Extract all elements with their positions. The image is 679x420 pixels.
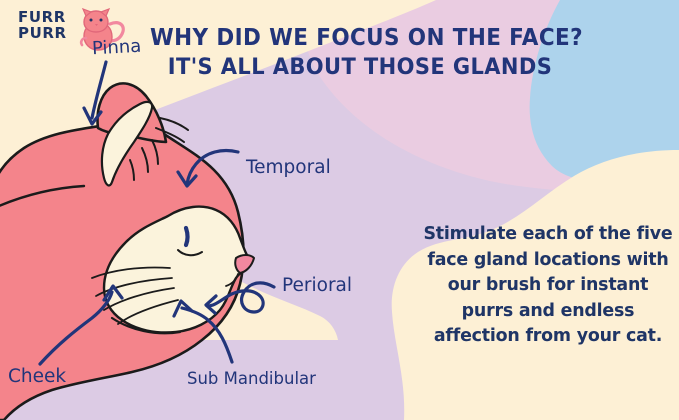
body-copy: Stimulate each of the five face gland lo… (422, 222, 674, 350)
brand-line-2: PURR (18, 26, 67, 42)
page-title: WHY DID WE FOCUS ON THE FACE? IT'S ALL A… (150, 24, 570, 81)
label-cheek: Cheek (8, 366, 66, 387)
headline-line-2: IT'S ALL ABOUT THOSE GLANDS (150, 53, 570, 82)
cat-nose (235, 255, 254, 273)
infographic-canvas: FURR PURR WHY DID WE FOCUS ON THE FACE? … (0, 0, 679, 420)
headline-line-1: WHY DID WE FOCUS ON THE FACE? (150, 24, 570, 53)
label-temporal: Temporal (246, 157, 331, 178)
label-perioral: Perioral (282, 275, 352, 296)
label-sub-mandibular: Sub Mandibular (187, 369, 316, 388)
label-pinna: Pinna (91, 36, 141, 60)
cat-eye (186, 228, 188, 245)
brand-wordmark: FURR PURR (18, 10, 67, 41)
